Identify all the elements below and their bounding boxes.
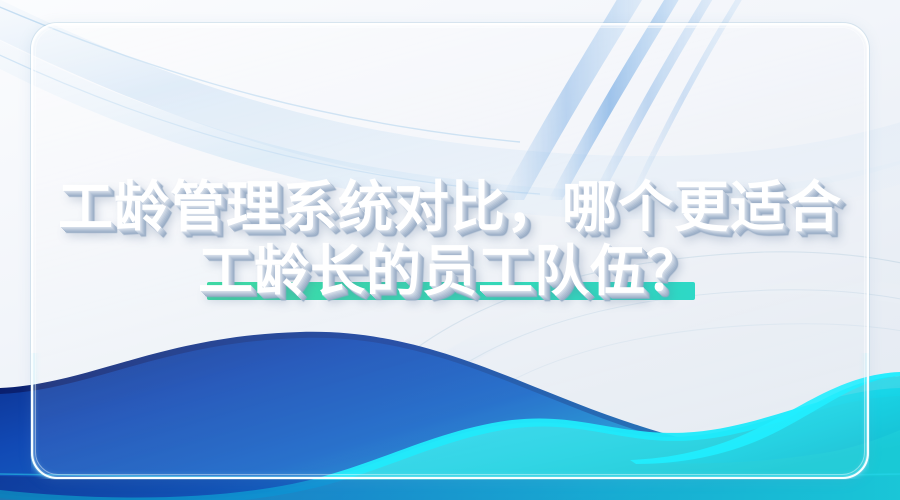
page-title: 工龄管理系统对比，哪个更适合 工龄长的员工队伍？: [0, 176, 900, 302]
bottom-wave-decoration: [0, 310, 900, 500]
promo-banner: 工龄管理系统对比，哪个更适合 工龄长的员工队伍？: [0, 0, 900, 500]
title-line-1: 工龄管理系统对比，哪个更适合: [0, 176, 900, 238]
title-line-2: 工龄长的员工队伍？: [0, 240, 900, 302]
